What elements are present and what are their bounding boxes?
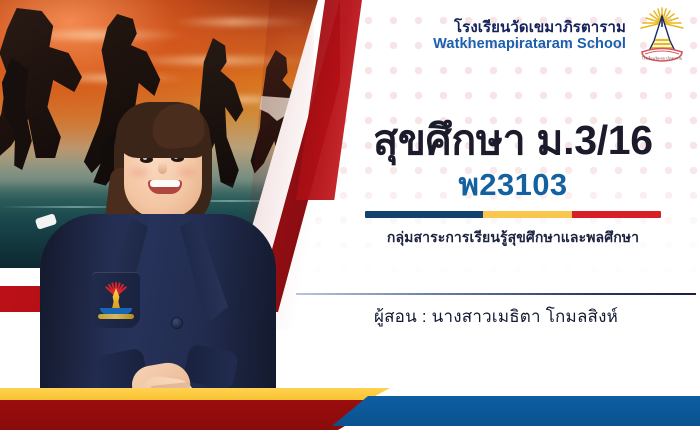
department-label: กลุ่มสาระการเรียนรู้สุขศึกษาและพลศึกษา	[330, 227, 696, 249]
blazer-button	[172, 318, 182, 328]
tricolor-gold	[483, 211, 572, 218]
gradient-divider	[296, 293, 696, 295]
course-title: สุขศึกษา ม.3/16	[330, 118, 696, 164]
svg-text:โรงเรียนวัดเขมาภิรตาราม: โรงเรียนวัดเขมาภิรตาราม	[642, 55, 683, 60]
blush	[130, 168, 148, 177]
school-name-block: โรงเรียนวัดเขมาภิรตาราม Watkhemapiratara…	[433, 19, 626, 54]
teeth	[150, 180, 180, 187]
blush	[178, 168, 196, 177]
course-code: พ23103	[330, 168, 696, 202]
school-header: โรงเรียนวัดเขมาภิรตาราม Watkhemapiratara…	[380, 8, 690, 64]
mouth	[148, 180, 182, 194]
bottom-stripe-red	[0, 400, 390, 430]
teacher-portrait	[40, 96, 276, 430]
teacher-name: ผู้สอน : นางสาวเมธิตา โกมลสิงห์	[296, 303, 696, 330]
nose	[158, 162, 167, 174]
tricolor-navy	[365, 211, 483, 218]
title-block: สุขศึกษา ม.3/16 พ23103 กลุ่มสาระการเรียน…	[330, 118, 696, 249]
bottom-stripe-blue	[332, 396, 700, 426]
school-crest-logo: โรงเรียนวัดเขมาภิรตาราม	[634, 7, 690, 65]
badge-text	[98, 314, 134, 319]
course-cover-slide: โรงเรียนวัดเขมาภิรตาราม Watkhemapiratara…	[0, 0, 700, 430]
tricolor-divider	[365, 211, 661, 218]
bottom-stripe-yellow	[0, 388, 386, 402]
school-name-en: Watkhemapirataram School	[433, 36, 626, 53]
school-name-th: โรงเรียนวัดเขมาภิรตาราม	[433, 19, 626, 37]
tricolor-red	[572, 211, 661, 218]
